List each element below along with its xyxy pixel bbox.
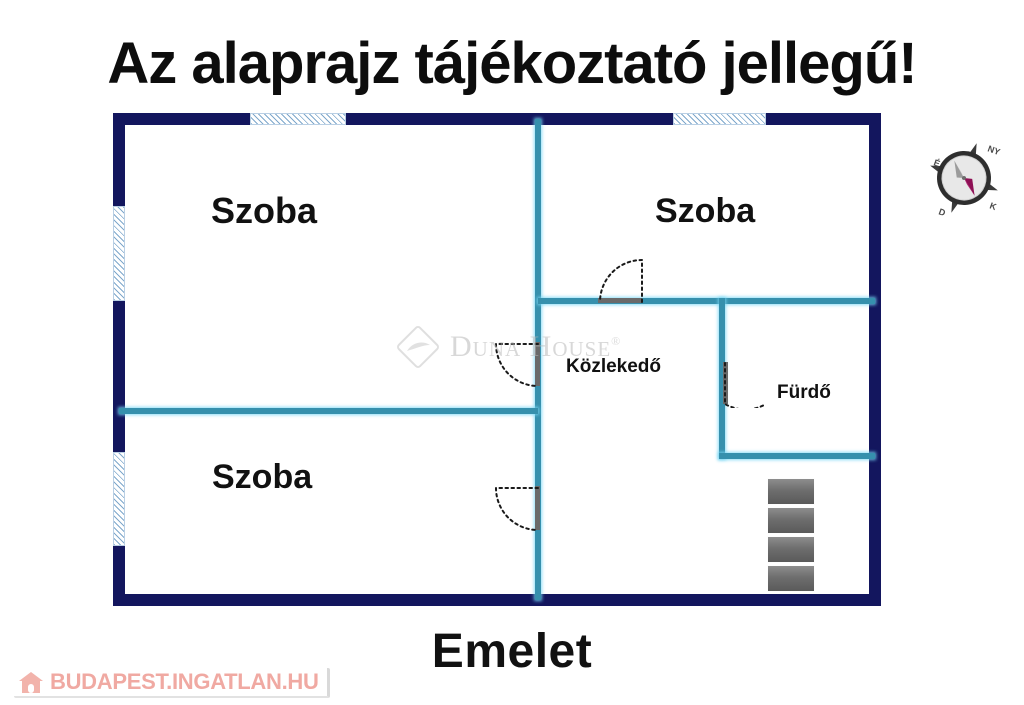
inner-wall-horizontal-upper-right (538, 298, 875, 304)
stair-step (767, 565, 815, 592)
window-left-upper (113, 206, 125, 301)
house-icon (18, 670, 44, 694)
outer-wall-right (869, 113, 881, 606)
door-szoba-top-right (596, 258, 646, 306)
window-top-right (673, 113, 766, 125)
inner-wall-furdo-bottom (719, 453, 875, 459)
room-label-szoba-top-left: Szoba (211, 190, 317, 232)
duna-house-diamond-logo (396, 325, 440, 369)
window-left-lower (113, 452, 125, 546)
floorplan-page: Az alaprajz tájékoztató jellegű! Szoba S… (0, 0, 1024, 705)
staircase (767, 478, 815, 594)
compass-rose-icon: NY É K D (925, 138, 1003, 218)
stair-step (767, 507, 815, 534)
room-label-kozlekedo: Közlekedő (566, 356, 661, 378)
door-kozlekedo-left-upper (492, 340, 542, 388)
compass-label-k: K (988, 200, 998, 212)
compass-label-d: D (937, 206, 947, 218)
room-label-furdo: Fürdő (777, 382, 831, 404)
door-kozlekedo-left-lower (492, 484, 542, 532)
site-branding[interactable]: BUDAPEST.INGATLAN.HU (14, 668, 330, 698)
outer-wall-bottom (113, 594, 881, 606)
site-branding-text: BUDAPEST.INGATLAN.HU (50, 669, 319, 695)
compass-label-ny: NY (986, 143, 1001, 157)
room-label-szoba-bottom-left: Szoba (212, 458, 312, 497)
window-top-left (250, 113, 346, 125)
room-label-szoba-top-right: Szoba (655, 192, 755, 231)
inner-wall-horizontal-left (119, 408, 538, 414)
door-furdo (722, 360, 768, 408)
watermark-registered-mark: ® (611, 334, 621, 348)
floorplan-drawing: Szoba Szoba Szoba Közlekedő Fürdő (0, 0, 1024, 705)
stair-step (767, 478, 815, 505)
stair-step (767, 536, 815, 563)
